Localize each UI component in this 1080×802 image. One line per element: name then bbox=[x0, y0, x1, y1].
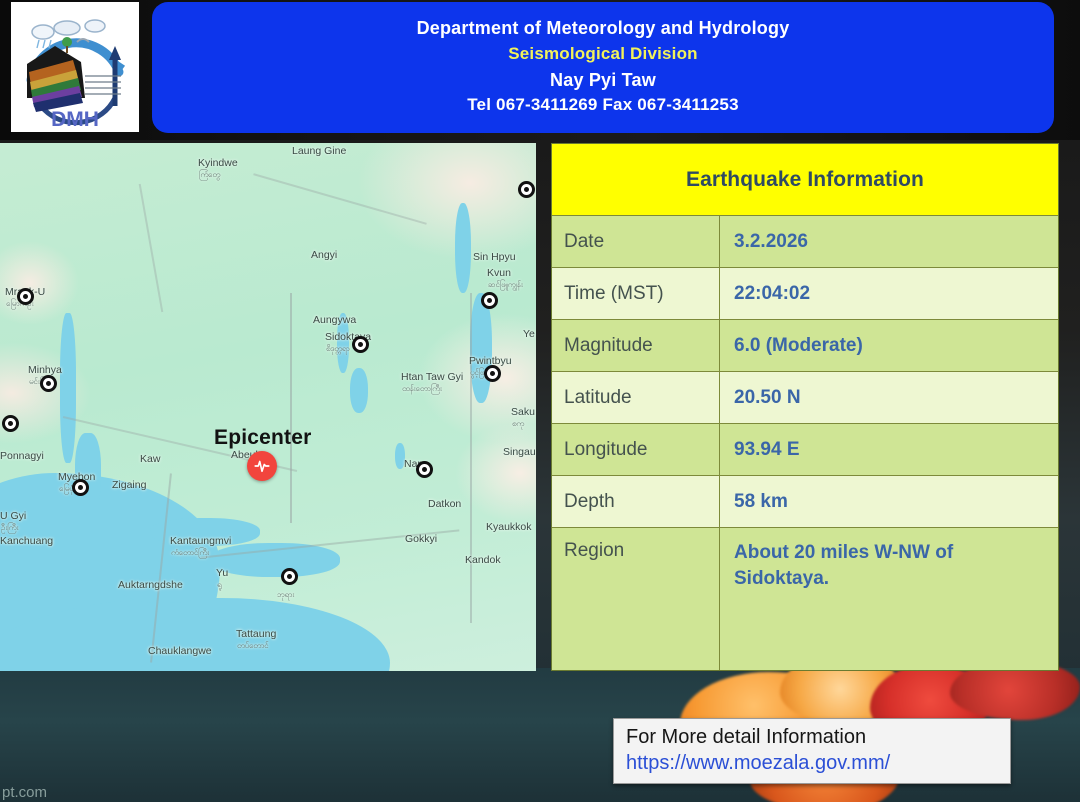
more-info-url[interactable]: https://www.moezala.gov.mm/ bbox=[626, 750, 998, 776]
info-key: Time (MST) bbox=[552, 268, 720, 319]
map-place-label: Kaw bbox=[140, 453, 160, 465]
info-key: Longitude bbox=[552, 424, 720, 475]
map-place-label-burmese: တပ်တောင် bbox=[237, 640, 268, 652]
map-place-label: Saku bbox=[511, 406, 535, 418]
map-place-label: Gokkyi bbox=[405, 533, 437, 545]
table-row: Time (MST)22:04:02 bbox=[552, 268, 1058, 320]
info-table-body: Date3.2.2026Time (MST)22:04:02Magnitude6… bbox=[552, 216, 1058, 670]
map-place-label: Tattaung bbox=[236, 628, 276, 640]
map-city-marker[interactable] bbox=[17, 288, 34, 305]
map-place-label: Auktarngdshe bbox=[118, 579, 183, 591]
map-place-label: Datkon bbox=[428, 498, 461, 510]
earthquake-info-table: Earthquake Information Date3.2.2026Time … bbox=[551, 143, 1059, 671]
map-place-label: Laung Gine bbox=[292, 145, 346, 157]
map-place-label-burmese: ဘုရား bbox=[277, 589, 294, 601]
map-place-label: Kvun bbox=[487, 267, 511, 279]
svg-text:DMH: DMH bbox=[51, 108, 99, 131]
map-place-label-burmese: ဦးကြီး bbox=[1, 522, 18, 534]
header-division: Seismological Division bbox=[508, 43, 698, 66]
header-city: Nay Pyi Taw bbox=[550, 68, 656, 92]
info-key: Latitude bbox=[552, 372, 720, 423]
map-place-label-burmese: ထန်းတောကြီး bbox=[402, 383, 442, 395]
info-table-title: Earthquake Information bbox=[552, 144, 1058, 216]
map-place-label: Kyaukkok bbox=[486, 521, 532, 533]
map-place-label: Angyi bbox=[311, 249, 337, 261]
seismograph-icon bbox=[253, 457, 271, 475]
more-info-label: For More detail Information bbox=[626, 724, 998, 750]
table-row: Depth 58 km bbox=[552, 476, 1058, 528]
map-city-marker[interactable] bbox=[518, 181, 535, 198]
table-row: Longitude93.94 E bbox=[552, 424, 1058, 476]
map-city-marker[interactable] bbox=[40, 375, 57, 392]
more-info-box: For More detail Information https://www.… bbox=[613, 718, 1011, 784]
info-value: 3.2.2026 bbox=[720, 216, 1058, 267]
map-place-label: Singau bbox=[503, 446, 536, 458]
header-department: Department of Meteorology and Hydrology bbox=[417, 16, 790, 40]
table-row: RegionAbout 20 miles W-NW of Sidoktaya. bbox=[552, 528, 1058, 670]
map-place-label-burmese: ဆင်ဖြူကျွန်း bbox=[488, 279, 523, 291]
info-value: 22:04:02 bbox=[720, 268, 1058, 319]
map-place-label-burmese: စိဒုတ္တရာ bbox=[326, 343, 350, 355]
map-place-label: Ponnagyi bbox=[0, 450, 44, 462]
info-key: Region bbox=[552, 528, 720, 670]
map-city-marker[interactable] bbox=[72, 479, 89, 496]
map-place-label: Sin Hpyu bbox=[473, 251, 516, 263]
map-place-label: Kyindwe bbox=[198, 157, 238, 169]
info-key: Depth bbox=[552, 476, 720, 527]
map-place-label: U Gyi bbox=[0, 510, 26, 522]
map-city-marker[interactable] bbox=[481, 292, 498, 309]
table-row: Magnitude6.0 (Moderate) bbox=[552, 320, 1058, 372]
map-place-label-burmese: ကံတောင်ကြီး bbox=[171, 547, 209, 559]
map-place-label: Yu bbox=[216, 567, 228, 579]
map-place-label: Kanchuang bbox=[0, 535, 53, 547]
table-row: Date3.2.2026 bbox=[552, 216, 1058, 268]
map-place-label: Aungywa bbox=[313, 314, 356, 326]
header-banner: Department of Meteorology and Hydrology … bbox=[152, 2, 1054, 133]
epicenter-marker[interactable] bbox=[247, 451, 277, 481]
map-place-label-burmese: ကြံတွေ bbox=[199, 169, 220, 181]
dmh-logo: DMH bbox=[11, 2, 139, 132]
map-city-marker[interactable] bbox=[281, 568, 298, 585]
map-city-marker[interactable] bbox=[2, 415, 19, 432]
map-place-label-burmese: စကု bbox=[512, 418, 524, 430]
info-key: Magnitude bbox=[552, 320, 720, 371]
epicenter-map[interactable]: KyindweကြံတွေLaung GineAngyiAungywaSidok… bbox=[0, 143, 536, 671]
map-place-label: Chauklangwe bbox=[148, 645, 212, 657]
map-place-label: Zigaing bbox=[112, 479, 146, 491]
header-contact: Tel 067-3411269 Fax 067-3411253 bbox=[467, 94, 739, 117]
map-city-marker[interactable] bbox=[416, 461, 433, 478]
map-place-label: Kandok bbox=[465, 554, 501, 566]
epicenter-label: Epicenter bbox=[214, 426, 312, 450]
slide-canvas: DMH Department of Meteorology and Hydrol… bbox=[0, 0, 1080, 802]
info-value: 20.50 N bbox=[720, 372, 1058, 423]
info-key: Date bbox=[552, 216, 720, 267]
map-city-marker[interactable] bbox=[484, 365, 501, 382]
info-value: 93.94 E bbox=[720, 424, 1058, 475]
info-value: 58 km bbox=[720, 476, 1058, 527]
map-place-label: Minhya bbox=[28, 364, 62, 376]
map-city-marker[interactable] bbox=[352, 336, 369, 353]
table-row: Latitude20.50 N bbox=[552, 372, 1058, 424]
map-place-label: Kantaungmvi bbox=[170, 535, 231, 547]
watermark-text: pt.com bbox=[2, 784, 47, 801]
map-place-label: Ye bbox=[523, 328, 535, 340]
map-place-label-burmese: ရူ bbox=[217, 579, 221, 591]
map-place-label: Htan Taw Gyi bbox=[401, 371, 463, 383]
info-value: About 20 miles W-NW of Sidoktaya. bbox=[720, 528, 1044, 670]
info-value: 6.0 (Moderate) bbox=[720, 320, 1058, 371]
